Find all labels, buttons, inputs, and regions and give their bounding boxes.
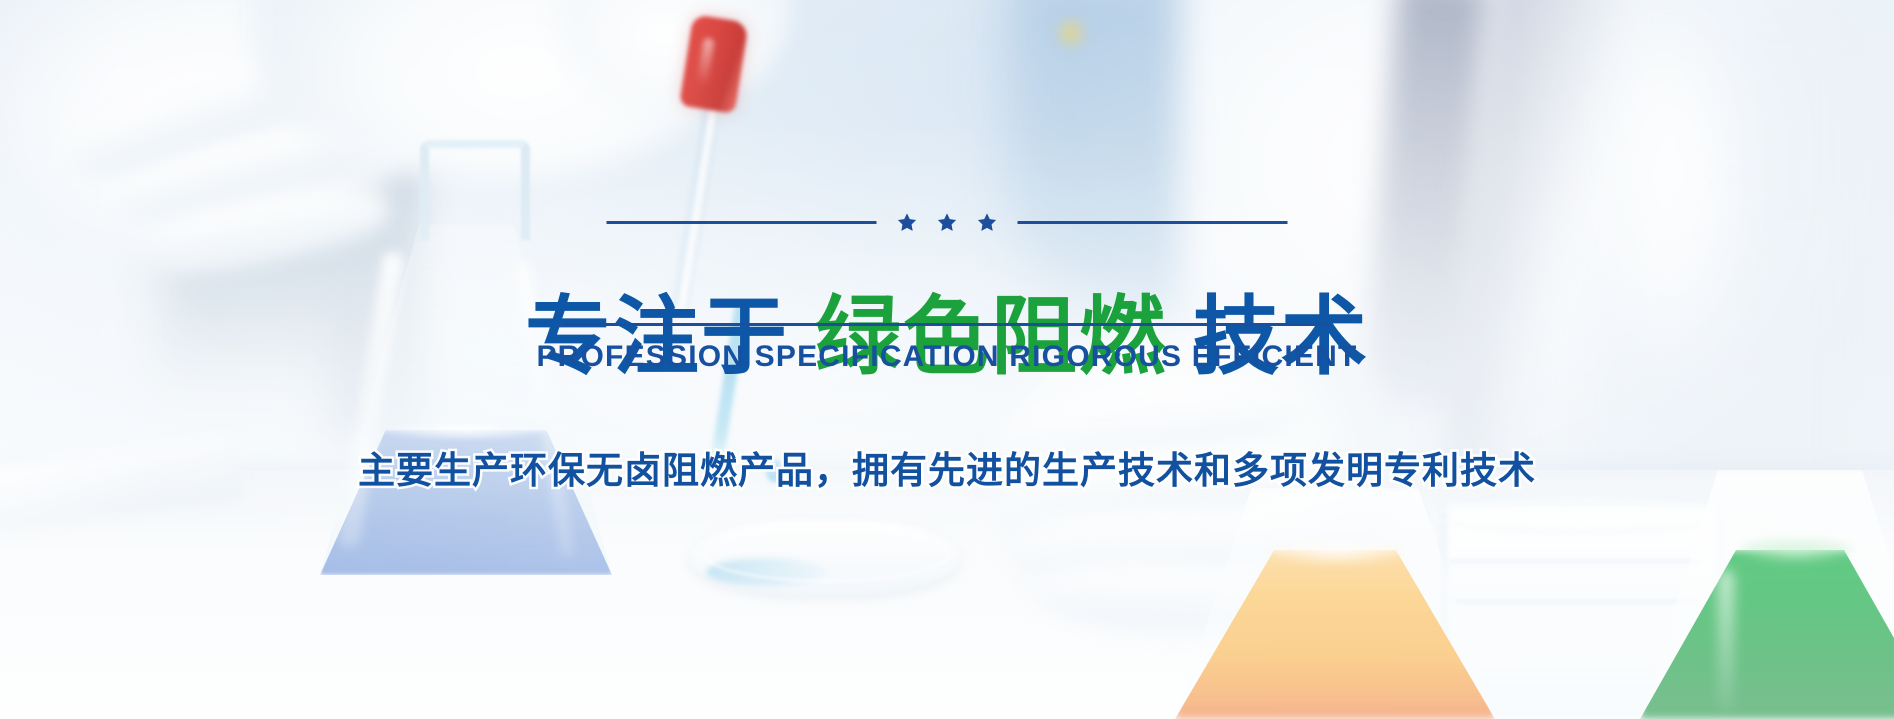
banner-content: 专注于绿色阻燃技术 PROFESSION SPECIFICATION RIGOR… xyxy=(0,0,1894,719)
tagline: 主要生产环保无卤阻燃产品，拥有先进的生产技术和多项发明专利技术 xyxy=(358,440,1536,494)
star-icon xyxy=(897,212,918,233)
star-icon xyxy=(937,212,958,233)
star-group xyxy=(891,212,1004,233)
rule-right xyxy=(1018,221,1288,224)
subtitle: PROFESSION SPECIFICATION RIGOROUS EFFICI… xyxy=(536,340,1357,374)
headline-underline xyxy=(563,323,1331,326)
rule-left xyxy=(607,221,877,224)
hero-banner: 专注于绿色阻燃技术 PROFESSION SPECIFICATION RIGOR… xyxy=(0,0,1894,719)
star-icon xyxy=(977,212,998,233)
decorative-rule-row xyxy=(607,212,1288,233)
